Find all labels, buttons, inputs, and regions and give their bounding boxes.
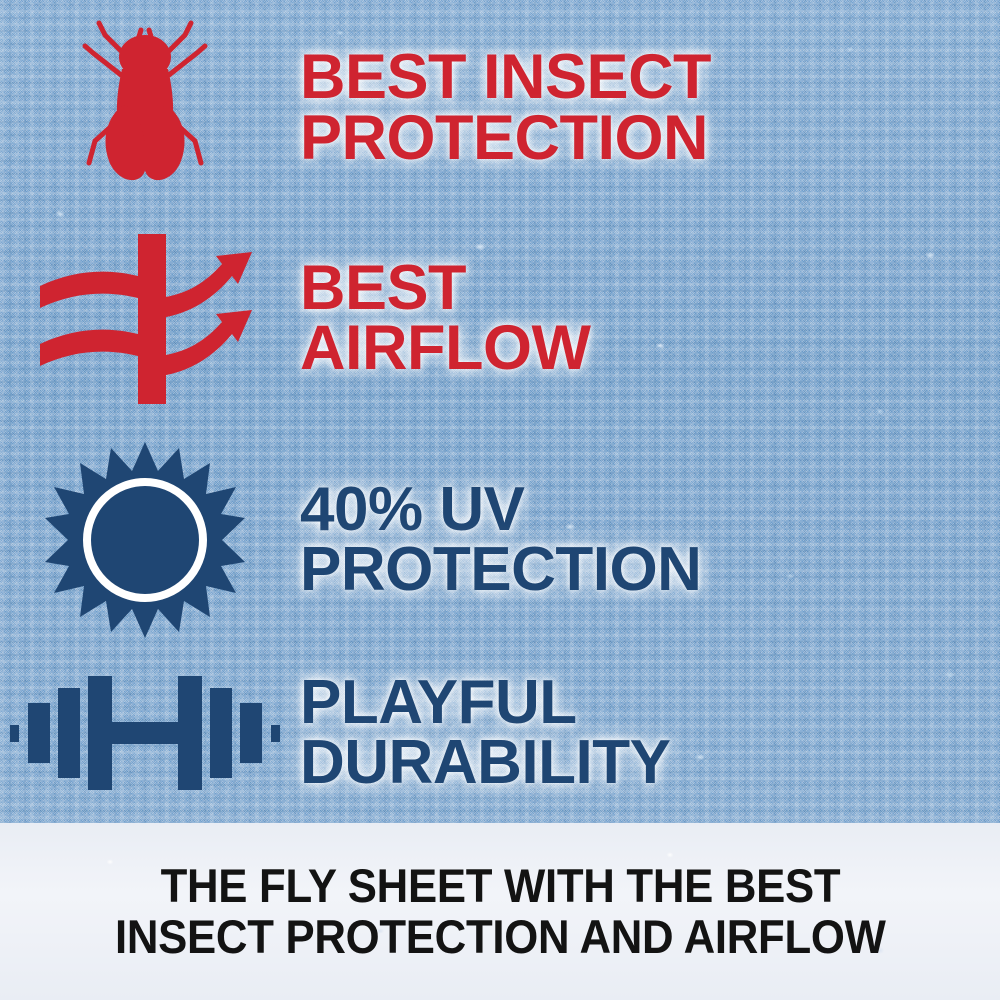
- caption-line-2: INSECT PROTECTION AND AIRFLOW: [115, 912, 886, 962]
- product-feature-infographic: BEST INSECT PROTECTION: [0, 0, 1000, 1000]
- feature-title-line-2: PROTECTION: [300, 540, 701, 600]
- feature-icon-cell: [0, 440, 290, 640]
- feature-text-cell: BEST AIRFLOW: [290, 258, 590, 379]
- fly-icon: [65, 13, 225, 203]
- feature-icon-cell: [0, 13, 290, 203]
- feature-icon-cell: [0, 668, 290, 798]
- feature-title-line-2: DURABILITY: [300, 733, 670, 793]
- feature-title-line-2: PROTECTION: [300, 108, 711, 168]
- feature-title-line-1: PLAYFUL: [300, 673, 670, 733]
- feature-text-cell: 40% UV PROTECTION: [290, 480, 701, 599]
- feature-title-line-1: BEST INSECT: [300, 47, 711, 107]
- feature-list: BEST INSECT PROTECTION: [0, 0, 1000, 823]
- feature-title-line-1: BEST: [300, 258, 590, 318]
- caption-bar: THE FLY SHEET WITH THE BEST INSECT PROTE…: [0, 823, 1000, 1000]
- feature-title-line-2: AIRFLOW: [300, 318, 590, 378]
- feature-text-cell: BEST INSECT PROTECTION: [290, 47, 711, 168]
- feature-row-durability: PLAYFUL DURABILITY: [0, 648, 670, 818]
- feature-text-cell: PLAYFUL DURABILITY: [290, 673, 670, 792]
- feature-icon-cell: [0, 226, 290, 411]
- caption-line-1: THE FLY SHEET WITH THE BEST: [160, 861, 840, 911]
- airflow-arrows-icon: [30, 226, 260, 411]
- sun-icon: [45, 440, 245, 640]
- feature-row-airflow: BEST AIRFLOW: [0, 218, 590, 418]
- feature-row-insect-protection: BEST INSECT PROTECTION: [0, 10, 711, 205]
- dumbbell-icon: [10, 668, 280, 798]
- feature-row-uv-protection: 40% UV PROTECTION: [0, 432, 701, 647]
- feature-title-line-1: 40% UV: [300, 480, 701, 540]
